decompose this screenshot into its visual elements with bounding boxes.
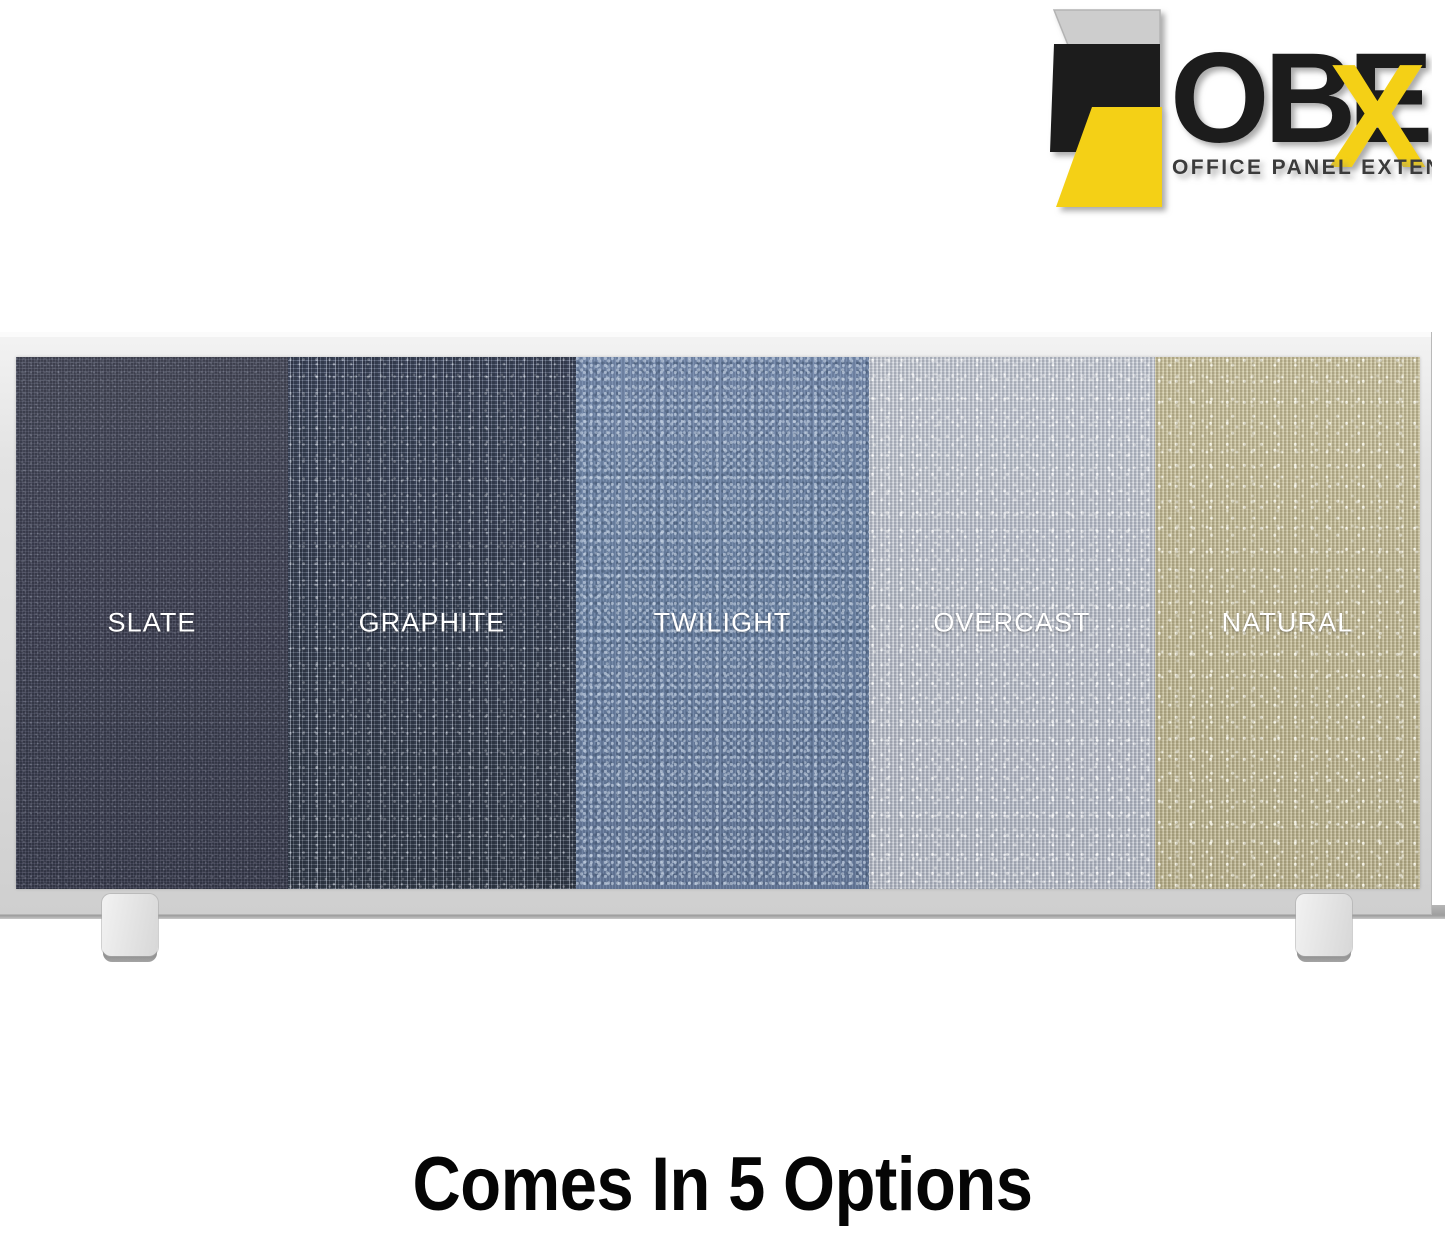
fabric-swatch-row: SLATE GRAPHITE TWILIGHT OVERCAST NATURAL [16,357,1420,889]
product-image-canvas: O B E X OFFICE PANEL EXTENDERS SLATE GRA… [0,0,1445,1236]
foot-body-left [102,894,158,956]
swatch-label-slate: SLATE [16,608,288,639]
caption-comes-in-5-options: Comes In 5 Options [87,1145,1359,1225]
logo-letter-o: O [1170,27,1268,170]
swatch-overcast[interactable]: OVERCAST [869,357,1155,889]
logo-chevron-mark [1050,10,1162,207]
desk-mount-foot-left [102,894,158,964]
panel-frame: SLATE GRAPHITE TWILIGHT OVERCAST NATURAL [0,332,1432,915]
swatch-label-graphite: GRAPHITE [288,608,576,639]
swatch-graphite[interactable]: GRAPHITE [288,357,576,889]
swatch-slate[interactable]: SLATE [16,357,288,889]
desk-mount-foot-right [1296,894,1352,964]
swatch-natural[interactable]: NATURAL [1155,357,1420,889]
swatch-twilight[interactable]: TWILIGHT [576,357,869,889]
obex-logo-svg: O B E X OFFICE PANEL EXTENDERS [1032,2,1432,247]
foot-body-right [1296,894,1352,956]
swatch-label-twilight: TWILIGHT [576,608,869,639]
obex-brand-logo: O B E X OFFICE PANEL EXTENDERS [1032,2,1432,247]
swatch-label-overcast: OVERCAST [869,608,1155,639]
swatch-label-natural: NATURAL [1155,608,1420,639]
logo-tagline: OFFICE PANEL EXTENDERS [1172,156,1432,179]
panel-extender-assembly: SLATE GRAPHITE TWILIGHT OVERCAST NATURAL [0,332,1445,932]
